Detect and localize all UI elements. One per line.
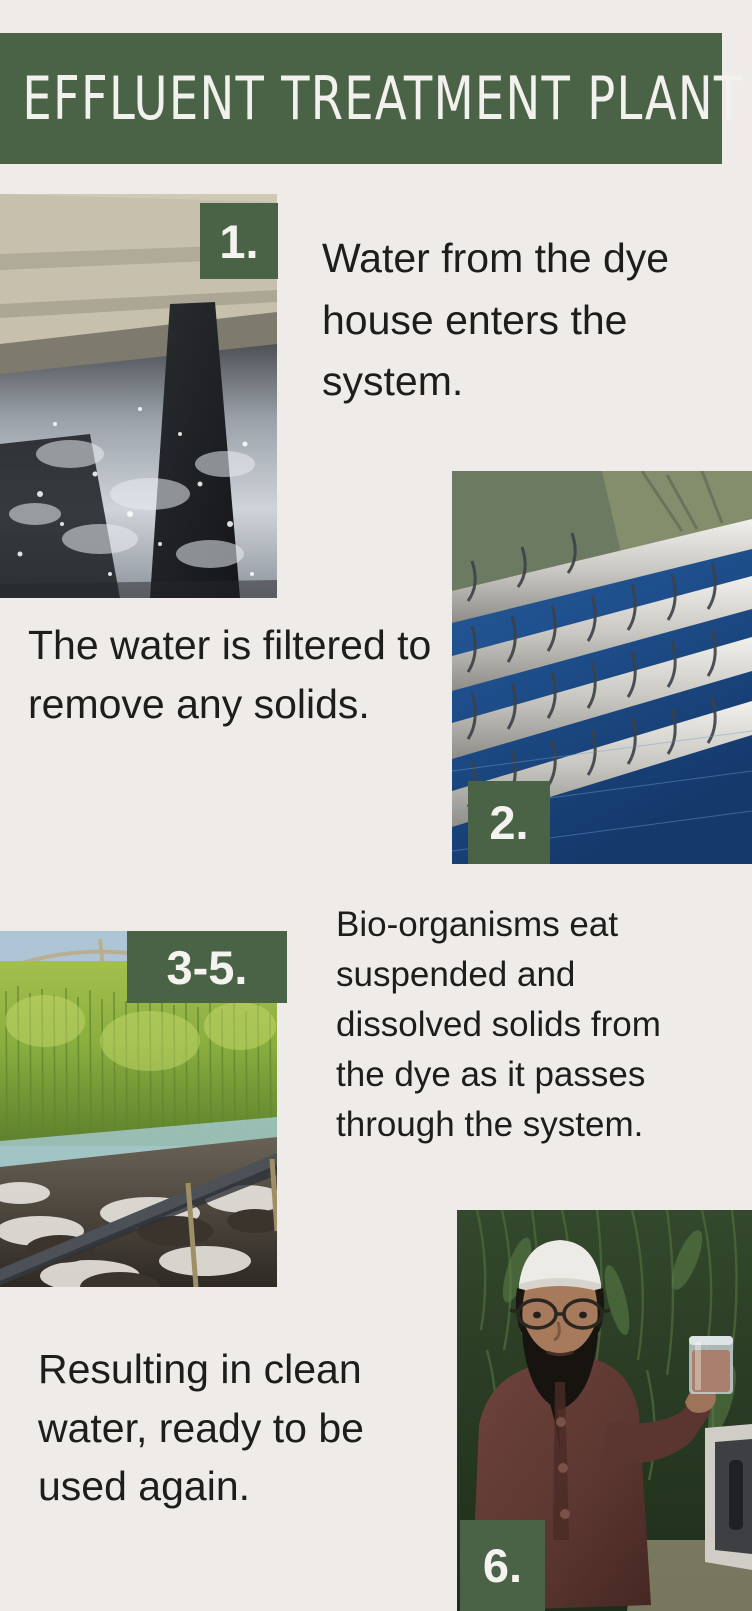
infographic-page: EFFLUENT TREATMENT PLANT [0,0,752,1611]
header-bar: EFFLUENT TREATMENT PLANT [0,33,722,164]
step-6-badge: 6. [460,1520,545,1611]
step-1-text: Water from the dye house enters the syst… [322,228,722,413]
step-6-text: Resulting in clean water, ready to be us… [38,1340,438,1516]
step-2-badge: 2. [468,781,550,864]
step-3-5-text: Bio-organisms eat suspended and dissolve… [336,900,716,1150]
page-title: EFFLUENT TREATMENT PLANT [0,69,743,129]
step-3-5-badge: 3-5. [127,931,287,1003]
step-2-text: The water is filtered to remove any soli… [28,616,448,733]
step-1-badge: 1. [200,203,278,279]
